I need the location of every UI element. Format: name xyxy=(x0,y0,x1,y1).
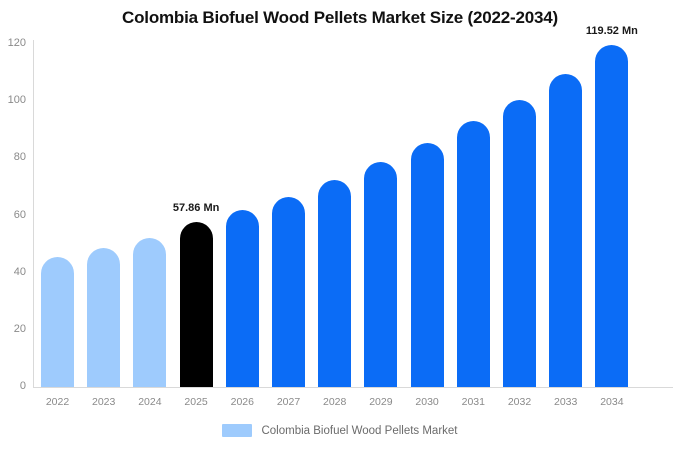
x-tick-2022: 2022 xyxy=(35,396,80,408)
bar-2028[interactable] xyxy=(318,180,351,387)
bar-2026[interactable] xyxy=(226,210,259,387)
bar-2034[interactable] xyxy=(595,45,628,387)
x-tick-2033: 2033 xyxy=(543,396,588,408)
x-tick-2029: 2029 xyxy=(358,396,403,408)
x-tick-2024: 2024 xyxy=(127,396,172,408)
x-axis-line xyxy=(33,387,673,388)
bar-2033[interactable] xyxy=(549,74,582,387)
bars-layer xyxy=(0,0,680,387)
x-tick-2023: 2023 xyxy=(81,396,126,408)
chart-legend: Colombia Biofuel Wood Pellets Market xyxy=(0,424,680,437)
bar-2027[interactable] xyxy=(272,197,305,387)
bar-value-label-2025: 57.86 Mn xyxy=(166,202,226,214)
x-tick-2030: 2030 xyxy=(405,396,450,408)
bar-2031[interactable] xyxy=(457,121,490,387)
x-tick-2025: 2025 xyxy=(174,396,219,408)
bar-2032[interactable] xyxy=(503,100,536,387)
bar-chart: Colombia Biofuel Wood Pellets Market Siz… xyxy=(0,0,680,450)
x-tick-2032: 2032 xyxy=(497,396,542,408)
bar-2025[interactable] xyxy=(180,222,213,387)
legend-swatch-icon xyxy=(222,424,252,437)
x-tick-2026: 2026 xyxy=(220,396,265,408)
bar-2024[interactable] xyxy=(133,238,166,387)
bar-value-label-2034: 119.52 Mn xyxy=(582,25,642,37)
bar-2029[interactable] xyxy=(364,162,397,387)
bar-2030[interactable] xyxy=(411,143,444,387)
x-tick-2031: 2031 xyxy=(451,396,496,408)
bar-2022[interactable] xyxy=(41,257,74,387)
x-tick-2027: 2027 xyxy=(266,396,311,408)
x-tick-2028: 2028 xyxy=(312,396,357,408)
bar-2023[interactable] xyxy=(87,248,120,387)
legend-label: Colombia Biofuel Wood Pellets Market xyxy=(261,425,457,437)
x-tick-2034: 2034 xyxy=(589,396,634,408)
